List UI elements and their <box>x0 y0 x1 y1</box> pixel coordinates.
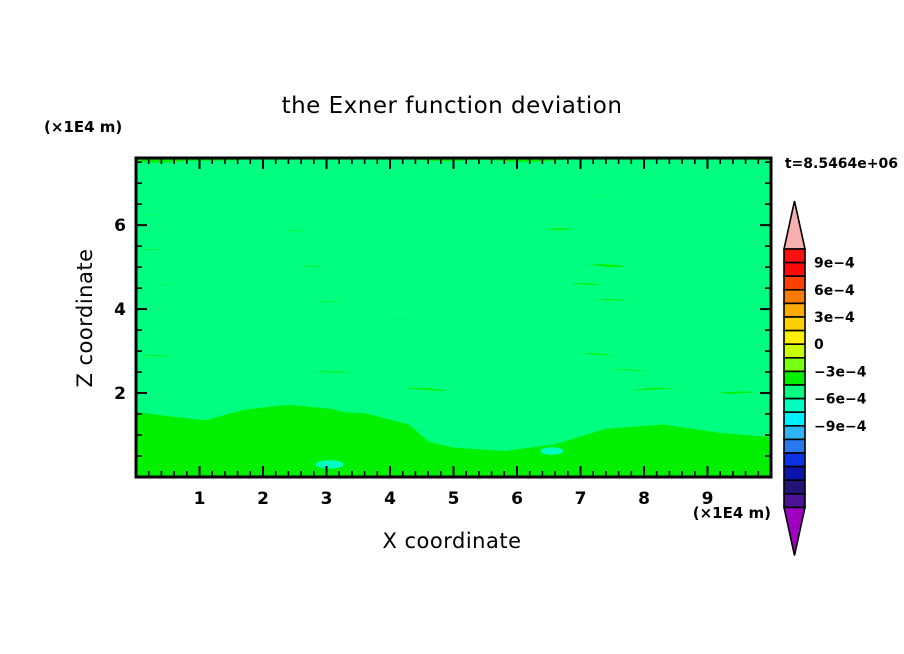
colorbar-cell <box>784 290 805 304</box>
colorbar-tick-label: −6e−4 <box>814 392 867 408</box>
colorbar-cell <box>784 426 805 440</box>
colorbar-tick-label: 0 <box>814 337 824 353</box>
colorbar-tick-label: −3e−4 <box>814 364 867 380</box>
colorbar-cell <box>784 344 805 358</box>
colorbar-cell <box>784 303 805 317</box>
colorbar-cell <box>784 467 805 481</box>
colorbar-cell <box>784 480 805 494</box>
colorbar-cell <box>784 249 805 263</box>
colorbar-cell <box>784 453 805 467</box>
colorbar-cell <box>784 439 805 453</box>
colorbar-cell <box>784 331 805 345</box>
colorbar-cell <box>784 385 805 399</box>
colorbar-cell <box>784 412 805 426</box>
colorbar-cell <box>784 358 805 372</box>
colorbar-cell <box>784 317 805 331</box>
x-tick-label: 7 <box>575 489 587 509</box>
cyan-pocket <box>541 447 564 455</box>
y-tick-label: 2 <box>114 384 126 404</box>
y-tick-label: 6 <box>114 216 126 236</box>
x-tick-label: 2 <box>257 489 269 509</box>
y-axis-unit-label: (×1E4 m) <box>44 118 122 136</box>
contour-figure: the Exner function deviation (×1E4 m) 12… <box>0 0 904 654</box>
time-annotation: t=8.5464e+06 <box>785 156 898 172</box>
y-tick-label: 4 <box>114 300 126 320</box>
colorbar-cell <box>784 371 805 385</box>
colorbar-cells <box>784 249 805 507</box>
colorbar-tick-label: 6e−4 <box>814 283 855 299</box>
x-tick-label: 4 <box>384 489 396 509</box>
colorbar-cell <box>784 276 805 290</box>
x-tick-label: 6 <box>511 489 523 509</box>
x-tick-label: 8 <box>638 489 650 509</box>
y-axis-title: Z coordinate <box>73 248 97 387</box>
x-tick-label: 3 <box>321 489 333 509</box>
x-axis-unit-label: (×1E4 m) <box>693 504 771 522</box>
colorbar-cell <box>784 399 805 413</box>
colorbar-cell <box>784 494 805 508</box>
contour-field <box>136 155 771 477</box>
colorbar-tick-label: −9e−4 <box>814 419 867 435</box>
colorbar-tick-label: 3e−4 <box>814 310 855 326</box>
field-wave-bands <box>136 155 771 397</box>
x-axis-title: X coordinate <box>382 529 521 553</box>
x-tick-label: 1 <box>194 489 206 509</box>
colorbar-tick-label: 9e−4 <box>814 256 855 272</box>
x-tick-label: 5 <box>448 489 460 509</box>
page-title: the Exner function deviation <box>282 93 623 119</box>
colorbar-cell <box>784 263 805 277</box>
cyan-pocket <box>316 460 344 468</box>
